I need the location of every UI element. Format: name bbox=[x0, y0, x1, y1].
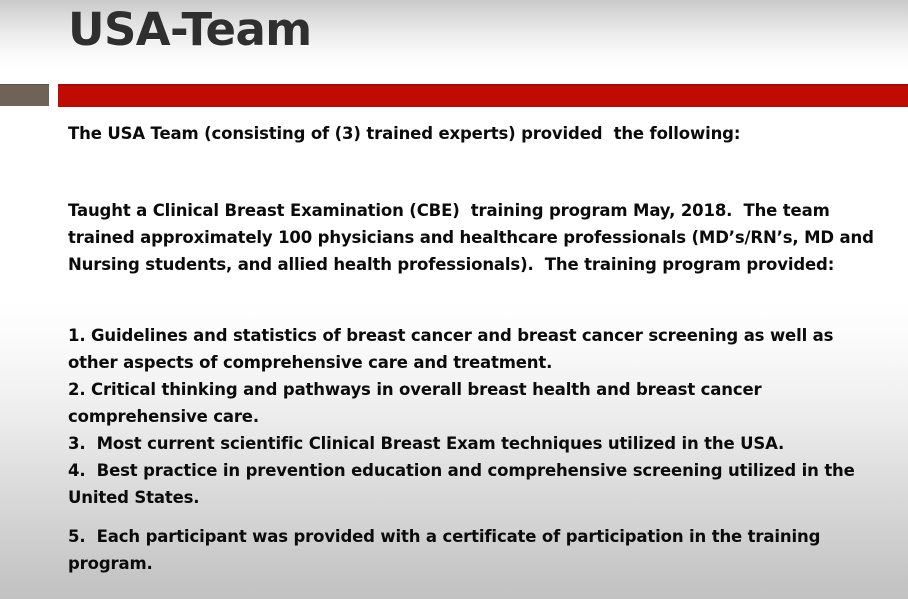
list-item: 1. Guidelines and statistics of breast c… bbox=[68, 322, 880, 376]
spacer-after-summary bbox=[68, 278, 880, 322]
slide-title-area: USA-Team bbox=[0, 0, 908, 78]
page-title: USA-Team bbox=[68, 2, 312, 58]
list-item: 3. Most current scientific Clinical Brea… bbox=[68, 430, 880, 457]
spacer-before-item-five bbox=[68, 511, 880, 523]
list-item: 4. Best practice in prevention education… bbox=[68, 457, 880, 511]
training-program-list: 1. Guidelines and statistics of breast c… bbox=[68, 322, 880, 577]
list-item: 5. Each participant was provided with a … bbox=[68, 523, 880, 577]
intro-paragraph: The USA Team (consisting of (3) trained … bbox=[68, 120, 880, 147]
slide-divider bbox=[0, 84, 908, 105]
summary-paragraph: Taught a Clinical Breast Examination (CB… bbox=[68, 197, 880, 278]
slide-body: The USA Team (consisting of (3) trained … bbox=[68, 120, 880, 577]
divider-accent-block bbox=[0, 84, 49, 106]
divider-red-bar bbox=[58, 84, 908, 107]
list-item: 2. Critical thinking and pathways in ove… bbox=[68, 376, 880, 430]
spacer-after-intro bbox=[68, 147, 880, 197]
presentation-slide: USA-Team The USA Team (consisting of (3)… bbox=[0, 0, 908, 599]
